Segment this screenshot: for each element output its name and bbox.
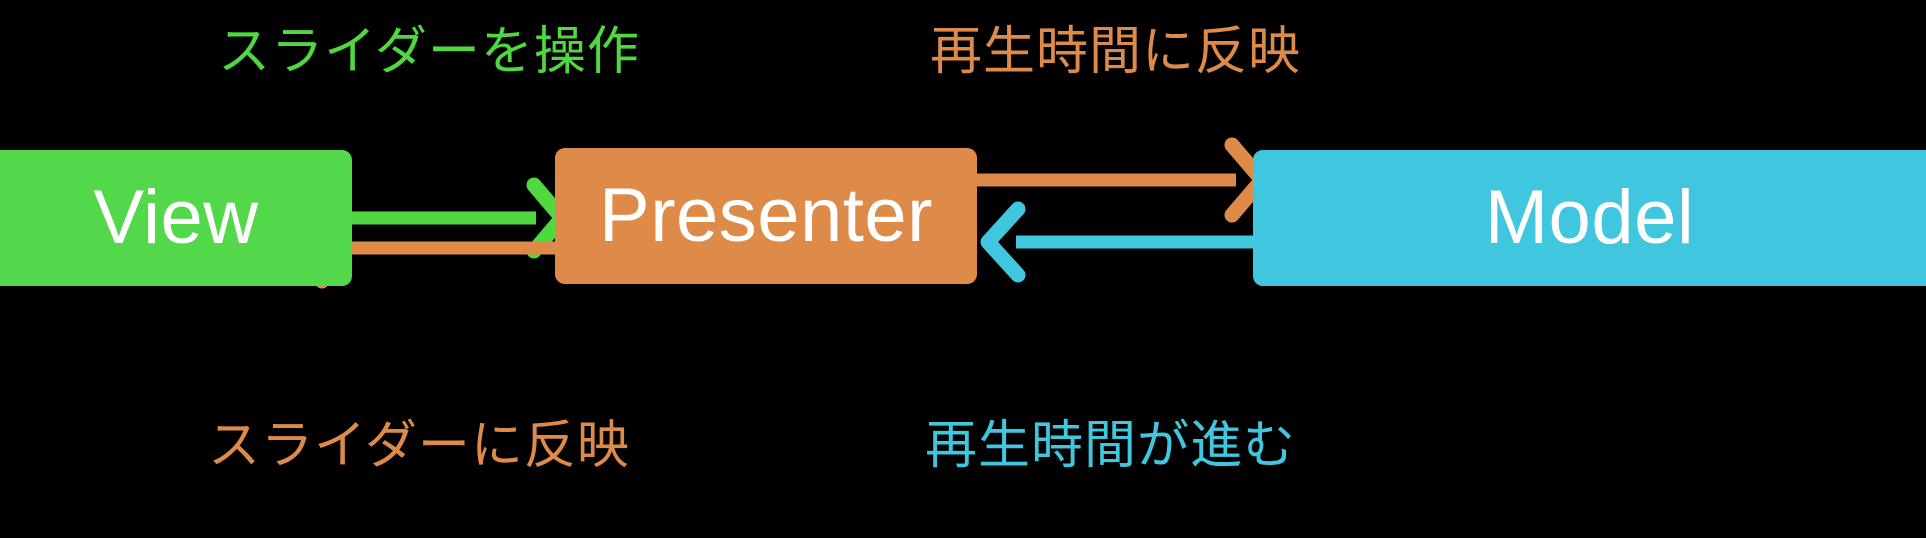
- arrow-view-to-presenter: [352, 185, 562, 251]
- diagram-canvas: View Presenter Model スライダーを操作 再生時間に反映 スラ…: [0, 0, 1926, 538]
- node-model[interactable]: Model: [1253, 150, 1926, 286]
- node-presenter[interactable]: Presenter: [555, 148, 977, 284]
- edge-label-model-to-presenter: 再生時間が進む: [925, 420, 1296, 472]
- node-view[interactable]: View: [0, 150, 352, 286]
- arrow-presenter-to-model: [977, 145, 1262, 215]
- edge-label-presenter-to-view: スライダーに反映: [208, 420, 630, 472]
- arrow-model-to-presenter: [988, 209, 1253, 275]
- edge-label-view-to-presenter: スライダーを操作: [218, 26, 640, 78]
- edge-label-presenter-to-model: 再生時間に反映: [930, 26, 1301, 78]
